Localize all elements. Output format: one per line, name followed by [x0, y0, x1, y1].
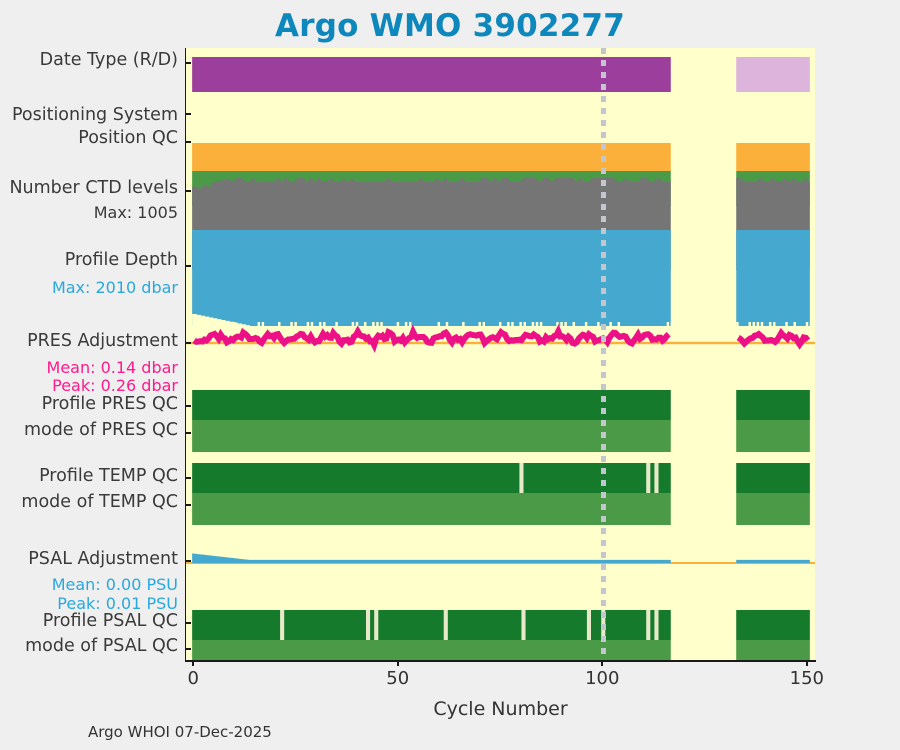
x-tick-50 [397, 660, 399, 666]
profile-depth-fringe [438, 322, 440, 326]
y-tick-profile-pres-qc [185, 405, 191, 407]
profile-depth-fringe [479, 322, 481, 326]
chart-canvas [186, 48, 815, 660]
psal-adjustment-line-0 [192, 553, 671, 563]
profile-depth-fringe [769, 322, 771, 326]
profile-depth-fringe [773, 322, 775, 326]
profile-depth-fringe [258, 322, 260, 326]
row-label-number-ctd-levels: Number CTD levels [0, 178, 178, 199]
x-tick-label-100: 100 [567, 668, 637, 689]
profile-depth-fringe [540, 322, 542, 326]
profile-depth-fringe [536, 322, 538, 326]
profile-depth-ramp [221, 320, 226, 326]
y-tick-psal-adjustment [185, 560, 191, 562]
profile-depth-fringe [810, 322, 812, 326]
profile-depth-fringe [597, 322, 599, 326]
profile-depth-fringe [294, 322, 296, 326]
row-label-mode-of-pres-qc: mode of PRES QC [0, 420, 178, 441]
row-label-position-qc: Position QC [0, 128, 178, 149]
profile-depth-fringe [511, 322, 513, 326]
mode-of-psal-qc-band-segment-0 [192, 640, 671, 660]
reference-line-cycle-100 [601, 48, 606, 660]
profile-temp-qc-band-gap-0 [519, 463, 523, 493]
argo-profile-summary-figure: Argo WMO 3902277 Date Type (R/D) Positio… [0, 0, 900, 750]
profile-depth-fringe [618, 322, 620, 326]
profile-depth-fringe [667, 322, 669, 326]
y-tick-profile-temp-qc [185, 477, 191, 479]
profile-depth-ramp [225, 321, 230, 326]
profile-depth-ramp [237, 323, 242, 326]
x-tick-100 [601, 660, 603, 666]
profile-depth-fringe [233, 322, 235, 326]
row-label-mode-of-temp-qc: mode of TEMP QC [0, 492, 178, 513]
profile-temp-qc-band-segment-0 [192, 463, 671, 493]
y-tick-date-type [185, 62, 191, 64]
row-label-profile-temp-qc: Profile TEMP QC [0, 466, 178, 487]
profile-psal-qc-band-gap-1 [366, 610, 370, 640]
profile-depth-ramp [196, 315, 201, 326]
positioning-system-band-segment-1 [736, 143, 810, 171]
profile-depth-fringe [785, 322, 787, 326]
row-label-mode-of-psal-qc: mode of PSAL QC [0, 636, 178, 657]
x-axis-label: Cycle Number [185, 698, 816, 720]
x-tick-150 [806, 660, 808, 666]
profile-depth-fringe [749, 322, 751, 326]
y-tick-profile-psal-qc [185, 622, 191, 624]
profile-depth-fringe [761, 322, 763, 326]
row-label-profile-depth-max: Max: 2010 dbar [0, 277, 178, 298]
profile-depth-fringe [519, 322, 521, 326]
profile-depth-ramp [229, 322, 234, 326]
profile-depth-fringe [364, 322, 366, 326]
row-label-profile-depth: Profile Depth [0, 250, 178, 271]
profile-depth-fringe [380, 322, 382, 326]
profile-depth-fringe [311, 322, 313, 326]
profile-depth-fringe [307, 322, 309, 326]
row-label-profile-psal-qc: Profile PSAL QC [0, 611, 178, 632]
row-label-pres-adjustment: PRES Adjustment [0, 331, 178, 352]
y-tick-mode-temp-qc [185, 504, 191, 506]
profile-depth-fringe [753, 322, 755, 326]
profile-depth-area-segment-1 [736, 230, 810, 326]
date-type-band-R [192, 57, 671, 92]
x-tick-label-150: 150 [772, 668, 842, 689]
profile-depth-fringe [323, 322, 325, 326]
profile-depth-fringe [757, 322, 759, 326]
profile-depth-fringe [278, 322, 280, 326]
mode-of-temp-qc-band-segment-1 [736, 493, 810, 525]
profile-depth-fringe [806, 322, 808, 326]
y-tick-positioning-system [185, 113, 191, 115]
y-tick-mode-pres-qc [185, 432, 191, 434]
profile-psal-qc-band-segment-1 [736, 610, 810, 640]
row-label-positioning-system: Positioning System [0, 105, 178, 126]
profile-depth-fringe [290, 322, 292, 326]
profile-depth-ramp [245, 325, 250, 326]
date-type-band-D [736, 57, 810, 92]
profile-depth-fringe [532, 322, 534, 326]
profile-temp-qc-band-gap-1 [646, 463, 650, 493]
profile-depth-fringe [204, 322, 206, 326]
profile-depth-fringe [507, 322, 509, 326]
profile-psal-qc-band-gap-2 [374, 610, 378, 640]
profile-depth-fringe [609, 322, 611, 326]
y-tick-position-qc [185, 141, 191, 143]
profile-temp-qc-band-segment-1 [736, 463, 810, 493]
y-tick-pres-adjustment [185, 342, 191, 344]
profile-depth-fringe [209, 322, 211, 326]
row-label-pres-peak: Peak: 0.26 dbar [0, 375, 178, 396]
profile-depth-fringe [397, 322, 399, 326]
profile-depth-fringe [483, 322, 485, 326]
row-label-psal-adjustment: PSAL Adjustment [0, 549, 178, 570]
mode-of-pres-qc-band-segment-0 [192, 420, 671, 452]
x-axis-line [185, 660, 816, 662]
profile-psal-qc-band-gap-5 [587, 610, 591, 640]
profile-depth-fringe [794, 322, 796, 326]
y-tick-mode-psal-qc [185, 648, 191, 650]
profile-depth-fringe [319, 322, 321, 326]
profile-depth-fringe [409, 322, 411, 326]
row-label-date-type: Date Type (R/D) [0, 50, 178, 71]
profile-depth-fringe [564, 322, 566, 326]
profile-psal-qc-band-gap-4 [521, 610, 525, 640]
x-tick-0 [192, 660, 194, 666]
mode-of-temp-qc-band-segment-0 [192, 493, 671, 525]
row-label-profile-pres-qc: Profile PRES QC [0, 394, 178, 415]
profile-depth-fringe [262, 322, 264, 326]
pres-adjustment-line-1 [738, 333, 808, 344]
row-label-number-ctd-levels-max: Max: 1005 [0, 202, 178, 223]
profile-depth-fringe [356, 322, 358, 326]
profile-depth-fringe [671, 322, 673, 326]
psal-adjustment-line-1 [736, 560, 810, 563]
y-tick-ctd-levels [185, 190, 191, 192]
page-title: Argo WMO 3902277 [0, 8, 900, 44]
profile-depth-fringe [335, 322, 337, 326]
profile-depth-fringe [499, 322, 501, 326]
profile-depth-fringe [405, 322, 407, 326]
profile-depth-ramp [192, 314, 197, 326]
profile-depth-fringe [376, 322, 378, 326]
profile-psal-qc-band-gap-8 [654, 610, 658, 640]
positioning-system-band-segment-0 [192, 143, 671, 171]
profile-depth-ramp [241, 324, 246, 326]
x-tick-label-50: 50 [363, 668, 433, 689]
profile-depth-fringe [352, 322, 354, 326]
profile-psal-qc-band-gap-7 [646, 610, 650, 640]
profile-psal-qc-band-gap-0 [280, 610, 284, 640]
profile-depth-fringe [200, 322, 202, 326]
profile-depth-fringe [372, 322, 374, 326]
profile-temp-qc-band-gap-2 [654, 463, 658, 493]
profile-depth-fringe [585, 322, 587, 326]
chart-plot-area [185, 48, 815, 660]
profile-depth-fringe [736, 322, 738, 326]
mode-of-pres-qc-band-segment-1 [736, 420, 810, 452]
profile-psal-qc-band-gap-3 [444, 610, 448, 640]
profile-depth-fringe [573, 322, 575, 326]
mode-of-psal-qc-band-segment-1 [736, 640, 810, 660]
profile-depth-fringe [524, 322, 526, 326]
row-label-psal-mean: Mean: 0.00 PSU [0, 574, 178, 595]
profile-depth-fringe [462, 322, 464, 326]
profile-depth-fringe [560, 322, 562, 326]
chart-svg [186, 48, 815, 660]
profile-depth-fringe [446, 322, 448, 326]
profile-pres-qc-band-segment-1 [736, 390, 810, 420]
profile-pres-qc-band-segment-0 [192, 390, 671, 420]
footer-credit: Argo WHOI 07-Dec-2025 [88, 723, 272, 741]
y-tick-profile-depth [185, 265, 191, 267]
profile-depth-fringe [217, 322, 219, 326]
x-tick-label-0: 0 [158, 668, 228, 689]
profile-psal-qc-band-segment-0 [192, 610, 671, 640]
profile-depth-area-segment-0 [192, 230, 671, 326]
profile-depth-fringe [213, 322, 215, 326]
